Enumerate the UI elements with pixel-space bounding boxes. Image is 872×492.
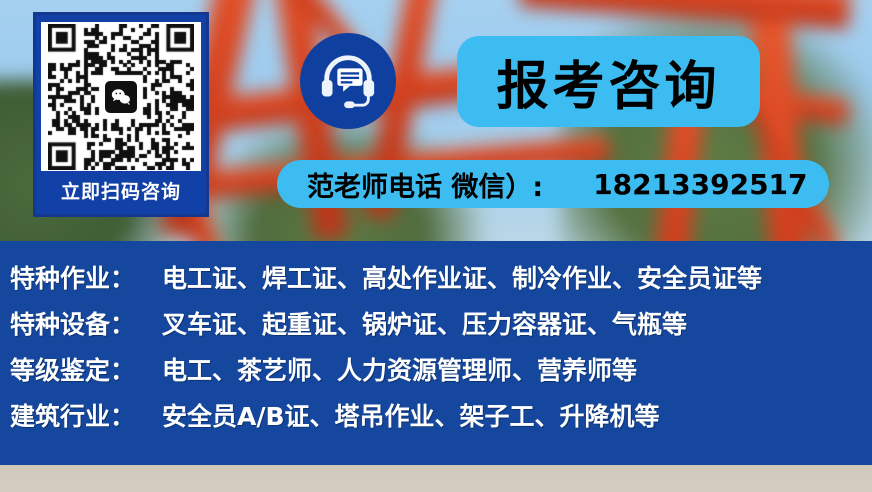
consultation-title-pill[interactable]: 报考咨询	[457, 36, 760, 127]
course-row-label: 等级鉴定：	[10, 351, 162, 387]
promo-poster: 立即扫码咨询 报考咨询 范老师电话 微信）: 18213392517 特种作业：…	[0, 0, 872, 492]
qr-code-label: 立即扫码咨询	[61, 171, 181, 214]
course-row-grade-assessment: 等级鉴定： 电工、茶艺师、人力资源管理师、营养师等	[0, 351, 872, 397]
course-row-construction-industry: 建筑行业： 安全员A/B证、塔吊作业、架子工、升降机等	[0, 397, 872, 443]
contact-phone-number[interactable]: 18213392517	[593, 168, 807, 201]
course-row-value: 叉车证、起重证、锅炉证、压力容器证、气瓶等	[162, 305, 687, 341]
course-row-special-equipment: 特种设备： 叉车证、起重证、锅炉证、压力容器证、气瓶等	[0, 305, 872, 351]
course-list-panel: 特种作业： 电工证、焊工证、高处作业证、制冷作业、安全员证等 特种设备： 叉车证…	[0, 241, 872, 465]
course-row-value: 安全员A/B证、塔吊作业、架子工、升降机等	[162, 397, 660, 433]
course-row-value: 电工、茶艺师、人力资源管理师、营养师等	[162, 351, 637, 387]
consultation-title-label: 报考咨询	[496, 44, 720, 119]
qr-code-card[interactable]: 立即扫码咨询	[33, 12, 209, 217]
course-row-label: 特种设备：	[10, 305, 162, 341]
contact-phone-label: 范老师电话 微信）:	[307, 165, 543, 204]
headset-chat-icon[interactable]	[300, 33, 396, 129]
wechat-icon	[105, 81, 137, 113]
contact-phone-pill[interactable]: 范老师电话 微信）: 18213392517	[277, 160, 829, 208]
qr-code-surface	[41, 22, 201, 171]
qr-code-matrix	[48, 24, 194, 170]
course-row-special-operations: 特种作业： 电工证、焊工证、高处作业证、制冷作业、安全员证等	[0, 259, 872, 305]
course-row-label: 建筑行业：	[10, 397, 162, 433]
course-row-value: 电工证、焊工证、高处作业证、制冷作业、安全员证等	[162, 259, 762, 295]
course-row-label: 特种作业：	[10, 259, 162, 295]
